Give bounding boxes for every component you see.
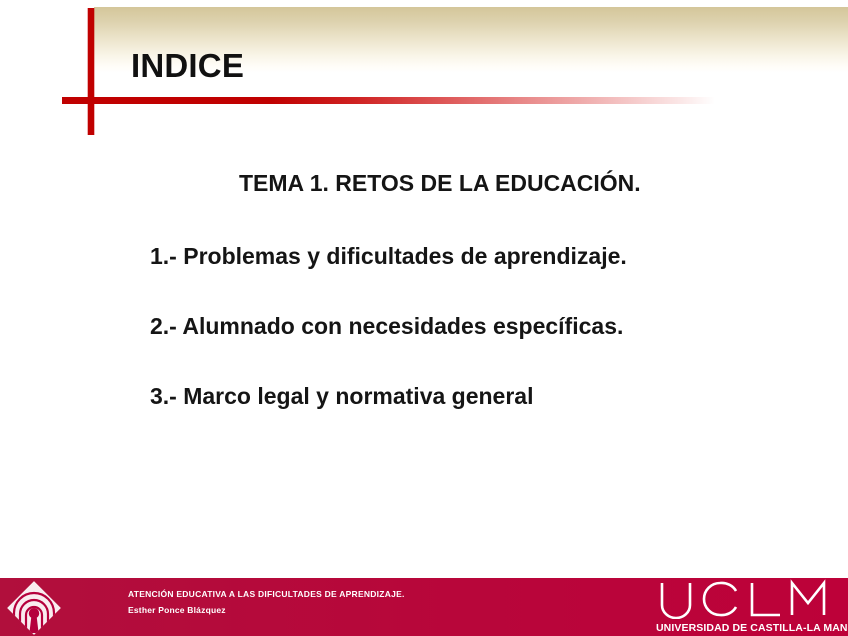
slide-body: TEMA 1. RETOS DE LA EDUCACIÓN. 1.- Probl… <box>0 170 848 453</box>
header-horizontal-rule <box>62 97 715 104</box>
page-title: INDICE <box>131 47 244 85</box>
footer-course-title: ATENCIÓN EDUCATIVA A LAS DIFICULTADES DE… <box>128 589 405 600</box>
footer-text-block: ATENCIÓN EDUCATIVA A LAS DIFICULTADES DE… <box>128 589 405 616</box>
uclm-letters-icon <box>656 579 846 619</box>
list-item: 2.- Alumnado con necesidades específicas… <box>150 313 848 340</box>
uclm-brand-mark: UNIVERSIDAD DE CASTILLA-LA MANCHA <box>656 578 846 636</box>
header-vertical-rule <box>88 8 94 135</box>
list-item: 1.- Problemas y dificultades de aprendiz… <box>150 243 848 270</box>
footer-author: Esther Ponce Blázquez <box>128 605 405 616</box>
slide-footer: ATENCIÓN EDUCATIVA A LAS DIFICULTADES DE… <box>0 578 848 636</box>
uclm-subtitle: UNIVERSIDAD DE CASTILLA-LA MANCHA <box>656 622 846 634</box>
uclm-diamond-arch-icon <box>6 580 62 636</box>
list-item: 3.- Marco legal y normativa general <box>150 383 848 410</box>
content-heading: TEMA 1. RETOS DE LA EDUCACIÓN. <box>239 170 848 197</box>
presentation-slide: INDICE TEMA 1. RETOS DE LA EDUCACIÓN. 1.… <box>0 0 848 636</box>
